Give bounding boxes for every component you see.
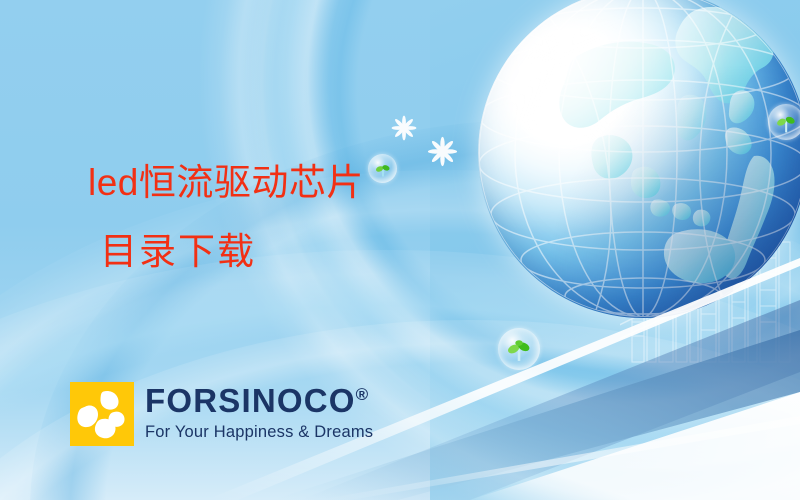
logo-name-text: FORSINOCO xyxy=(145,382,356,419)
logo-tagline: For Your Happiness & Dreams xyxy=(145,424,373,441)
bubble-with-sprout-icon xyxy=(498,328,540,370)
headline-line-2: 目录下载 xyxy=(100,233,364,270)
page-title: led恒流驱动芯片 目录下载 xyxy=(88,164,364,270)
banner-canvas: led恒流驱动芯片 目录下载 FORSINOCO® For xyxy=(0,0,800,500)
logo-company-name: FORSINOCO® xyxy=(145,384,373,417)
registered-trademark-icon: ® xyxy=(356,385,369,404)
globe-sphere xyxy=(478,0,800,318)
bubble-with-sprout-icon xyxy=(368,154,397,183)
flower-sparkle-icon xyxy=(427,136,458,167)
bubble-with-sprout-icon xyxy=(768,104,800,140)
headline-line-1: led恒流驱动芯片 xyxy=(88,164,364,201)
earth-globe-icon xyxy=(478,0,800,318)
globe-grid-lines xyxy=(478,0,800,318)
logo-text-block: FORSINOCO® For Your Happiness & Dreams xyxy=(145,382,373,441)
flower-sparkle-icon xyxy=(391,115,417,141)
company-logo[interactable]: FORSINOCO® For Your Happiness & Dreams xyxy=(70,382,373,446)
four-petal-flower-icon xyxy=(70,382,134,446)
